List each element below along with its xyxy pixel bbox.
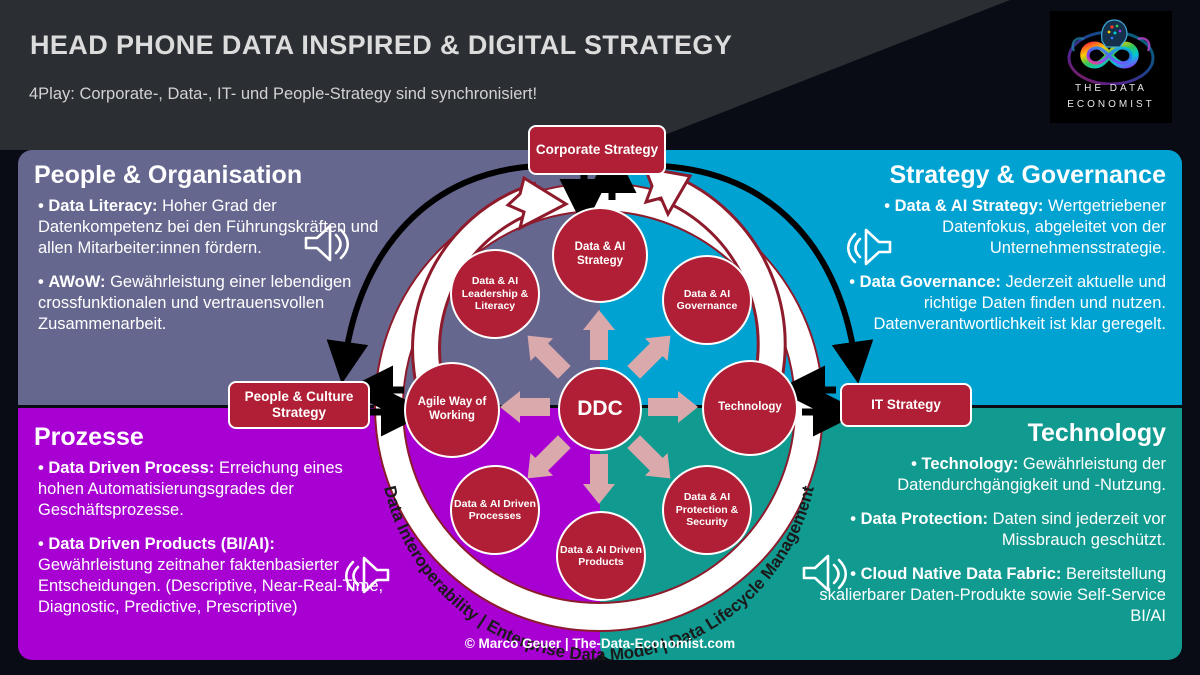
brand-logo: THE DATA ECONOMIST xyxy=(1050,11,1172,123)
bullet-data-protection: • Data Protection: Daten sind jederzeit … xyxy=(811,509,1166,551)
bullet-data-governance: • Data Governance: Jederzeit aktuelle un… xyxy=(811,272,1166,335)
node-technology[interactable]: Technology xyxy=(702,360,798,456)
chip-corporate-strategy[interactable]: Corporate Strategy xyxy=(528,125,666,175)
copyright-footer: © Marco Geuer | The-Data-Economist.com xyxy=(0,636,1200,651)
bullet-technology: • Technology: Gewährleistung der Datendu… xyxy=(811,454,1166,496)
chip-people-culture-strategy[interactable]: People & Culture Strategy xyxy=(228,381,370,429)
speaker-icon-strategy xyxy=(842,222,896,272)
node-data-ai-leadership-literacy[interactable]: Data & AI Leadership & Literacy xyxy=(450,249,540,339)
chip-it-strategy[interactable]: IT Strategy xyxy=(840,383,972,427)
node-data-ai-strategy[interactable]: Data & AI Strategy xyxy=(552,207,648,303)
logo-line-2: ECONOMIST xyxy=(1050,99,1172,110)
page-title: HEAD PHONE DATA INSPIRED & DIGITAL STRAT… xyxy=(30,30,732,61)
logo-line-1: THE DATA xyxy=(1050,83,1172,94)
speaker-icon-technology xyxy=(798,548,852,598)
page-subtitle: 4Play: Corporate-, Data-, IT- und People… xyxy=(29,85,537,104)
bullet-cloud-native-data-fabric: • Cloud Native Data Fabric: Bereitstellu… xyxy=(811,564,1166,627)
infinity-head-icon xyxy=(1050,13,1172,85)
node-data-ai-driven-processes[interactable]: Data & AI Driven Processes xyxy=(450,465,540,555)
node-data-ai-governance[interactable]: Data & AI Governance xyxy=(662,255,752,345)
bullet-data-driven-process: • Data Driven Process: Erreichung eines … xyxy=(38,458,393,521)
bullet-awow: • AWoW: Gewährleistung einer lebendigen … xyxy=(38,272,393,335)
node-agile-way-of-working[interactable]: Agile Way of Working xyxy=(404,362,500,458)
node-ddc-center[interactable]: DDC xyxy=(558,367,642,451)
node-data-ai-protection-security[interactable]: Data & AI Protection & Security xyxy=(662,465,752,555)
panel-people-heading: People & Organisation xyxy=(34,162,587,190)
speaker-icon-people xyxy=(300,218,354,268)
panel-strategy-heading: Strategy & Governance xyxy=(616,162,1166,190)
node-data-ai-driven-products[interactable]: Data & AI Driven Products xyxy=(556,511,646,601)
speaker-icon-prozesse xyxy=(340,550,394,600)
